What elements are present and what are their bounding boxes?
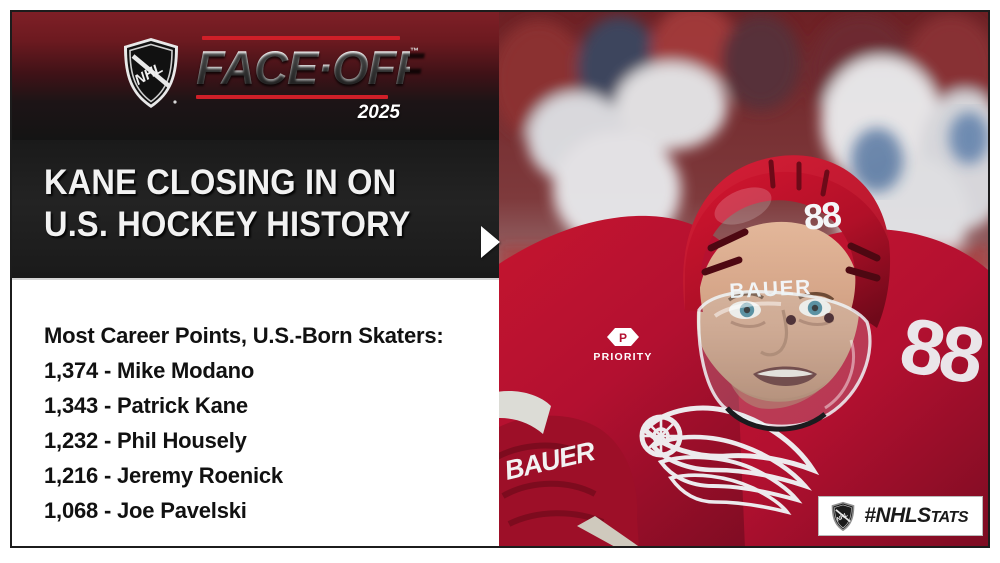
nhl-shield-icon: NHL	[830, 501, 856, 532]
nhlstats-s: S	[917, 504, 931, 527]
brand-lockup: NHL FACE·OFF FACE·OFF ™ 2025	[120, 36, 410, 124]
list-item: 1,343 - Patrick Kane	[44, 393, 499, 419]
play-arrow-icon	[481, 226, 500, 258]
headline-line-1: KANE CLOSING IN ON	[44, 162, 443, 204]
svg-text:PRIORITY: PRIORITY	[593, 351, 652, 363]
brand-header: NHL FACE·OFF FACE·OFF ™ 2025	[12, 12, 499, 140]
svg-text:P: P	[619, 331, 627, 345]
nhlstats-tats: TATS	[931, 509, 968, 526]
list-item: 1,374 - Mike Modano	[44, 358, 499, 384]
svg-text:88: 88	[802, 193, 843, 238]
trademark-mark: ™	[410, 46, 419, 56]
nhlstats-badge: NHL #NHLSTATS	[818, 496, 983, 536]
stats-heading: Most Career Points, U.S.-Born Skaters:	[44, 323, 499, 349]
nhlstats-label: #NHLSTATS	[864, 504, 968, 528]
nhl-shield-logo: NHL	[120, 36, 182, 110]
graphic-card: NHL FACE·OFF FACE·OFF ™ 2025	[10, 10, 990, 548]
list-item: 1,068 - Joe Pavelski	[44, 498, 499, 524]
faceoff-wordmark: FACE·OFF FACE·OFF ™ 2025	[196, 36, 410, 124]
headline-block: KANE CLOSING IN ON U.S. HOCKEY HISTORY	[12, 140, 499, 280]
list-item: 1,216 - Jeremy Roenick	[44, 463, 499, 489]
nhl-faceoff-graphic: NHL FACE·OFF FACE·OFF ™ 2025	[0, 0, 1000, 563]
stats-list: Most Career Points, U.S.-Born Skaters: 1…	[12, 280, 499, 524]
headline-line-2: U.S. HOCKEY HISTORY	[44, 204, 443, 246]
nhlstats-hash: #NHL	[864, 504, 917, 527]
rule-bottom	[196, 95, 388, 99]
wordmark-text: FACE·OFF	[196, 42, 410, 94]
rule-top	[202, 36, 400, 40]
left-panel: NHL FACE·OFF FACE·OFF ™ 2025	[12, 12, 499, 546]
season-year: 2025	[196, 102, 410, 124]
player-photo: NHL P PRIORITY	[499, 12, 990, 546]
list-item: 1,232 - Phil Housely	[44, 428, 499, 454]
